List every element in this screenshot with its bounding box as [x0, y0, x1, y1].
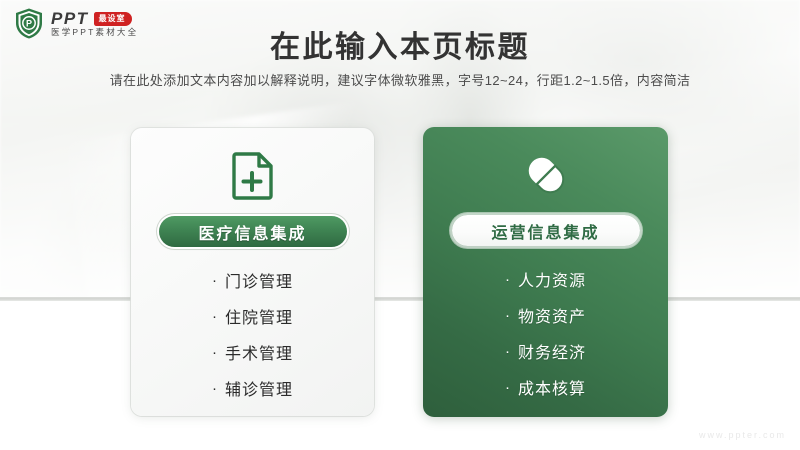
bullet-dot-icon: · [212, 345, 218, 360]
slide-background [0, 0, 800, 450]
list-item: · 人力资源 [505, 267, 586, 291]
bullet-dot-icon: · [505, 380, 511, 395]
list-item: · 成本核算 [505, 375, 586, 399]
list-item: · 财务经济 [505, 339, 586, 363]
bullet-dot-icon: · [212, 273, 218, 288]
card-label-operations[interactable]: 运营信息集成 [452, 215, 640, 246]
page-title: 在此输入本页标题 [0, 22, 800, 66]
list-item-label: 手术管理 [225, 340, 293, 364]
bullet-dot-icon: · [505, 344, 511, 359]
site-watermark: www.ppter.com [699, 430, 786, 440]
bullet-list-operations: · 人力资源 · 物资资产 · 财务经济 · 成本核算 [423, 267, 668, 399]
page-subtitle: 请在此处添加文本内容加以解释说明，建议字体微软雅黑，字号12~24，行距1.2~… [0, 70, 800, 89]
card-operations-information-integration[interactable]: 运营信息集成 · 人力资源 · 物资资产 · 财务经济 · 成本核算 [423, 127, 668, 417]
list-item: · 物资资产 [505, 303, 586, 327]
background-lower-panel [0, 301, 800, 450]
bullet-dot-icon: · [212, 381, 218, 396]
list-item: · 手术管理 [212, 340, 293, 364]
list-item-label: 门诊管理 [225, 268, 293, 292]
card-label-medical[interactable]: 医疗信息集成 [159, 216, 347, 247]
list-item-label: 辅诊管理 [225, 376, 293, 400]
list-item-label: 住院管理 [225, 304, 293, 328]
list-item-label: 成本核算 [518, 375, 586, 399]
document-plus-icon [131, 150, 374, 202]
bullet-dot-icon: · [505, 308, 511, 323]
bullet-dot-icon: · [212, 309, 218, 324]
capsule-pill-icon [423, 149, 668, 201]
list-item: · 辅诊管理 [212, 376, 293, 400]
list-item: · 门诊管理 [212, 268, 293, 292]
bullet-dot-icon: · [505, 272, 511, 287]
list-item: · 住院管理 [212, 304, 293, 328]
list-item-label: 人力资源 [518, 267, 586, 291]
bullet-list-medical: · 门诊管理 · 住院管理 · 手术管理 · 辅诊管理 [131, 268, 374, 400]
list-item-label: 物资资产 [518, 303, 586, 327]
list-item-label: 财务经济 [518, 339, 586, 363]
card-medical-information-integration[interactable]: 医疗信息集成 · 门诊管理 · 住院管理 · 手术管理 · 辅诊管理 [131, 128, 374, 416]
